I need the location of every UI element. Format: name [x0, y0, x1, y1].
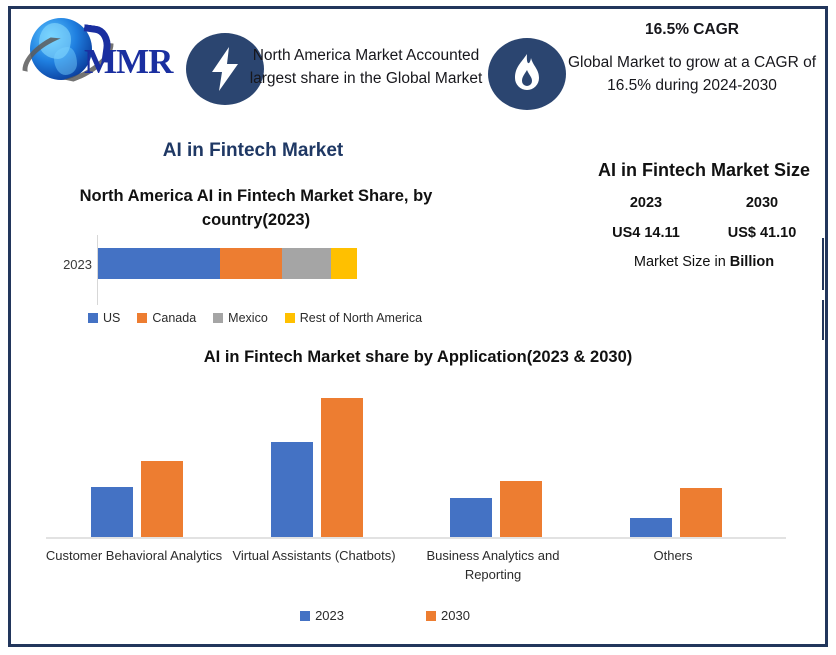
- north-america-chart-title: North America AI in Fintech Market Share…: [76, 184, 436, 232]
- category-label-2: Virtual Assistants (Chatbots): [224, 546, 404, 565]
- legend-label: Mexico: [228, 311, 268, 325]
- legend-swatch-icon: [88, 313, 98, 323]
- stacked-segment-mexico: [282, 248, 331, 279]
- border-tick: [822, 238, 824, 290]
- legend-item[interactable]: 2030: [426, 608, 470, 623]
- cagr-note: Global Market to grow at a CAGR of 16.5%…: [558, 51, 826, 97]
- market-size-year-2023: 2023: [603, 195, 689, 211]
- bar-2030-4: [680, 488, 722, 537]
- logo-text: MMR: [84, 42, 172, 82]
- stacked-segment-canada: [220, 248, 282, 279]
- cagr-value: 16.5% CAGR: [558, 18, 826, 41]
- bar-2030-2: [321, 398, 363, 537]
- bar-2023-3: [450, 498, 492, 537]
- legend-label: US: [103, 311, 120, 325]
- bar-2023-2: [271, 442, 313, 537]
- legend-swatch-icon: [426, 611, 436, 621]
- mmr-logo: MMR: [22, 12, 187, 92]
- legend-label: Rest of North America: [300, 311, 422, 325]
- border-tick: [822, 300, 824, 340]
- north-america-note: North America Market Accounted largest s…: [232, 44, 500, 90]
- infographic-canvas: MMR North America Market Accounted large…: [0, 0, 836, 655]
- legend-item[interactable]: US: [88, 311, 120, 325]
- legend-item[interactable]: 2023: [300, 608, 344, 623]
- legend-item[interactable]: Mexico: [213, 311, 268, 325]
- market-size-value-2023: US4 14.11: [603, 225, 689, 241]
- application-chart-baseline: [46, 537, 786, 539]
- bar-2030-3: [500, 481, 542, 537]
- north-america-legend: USCanadaMexicoRest of North America: [88, 311, 422, 325]
- stacked-category-label: 2023: [36, 257, 92, 272]
- market-size-unit: Market Size in Billion: [560, 254, 836, 270]
- market-size-unit-prefix: Market Size in: [634, 254, 730, 270]
- application-legend: 20232030: [0, 608, 770, 623]
- legend-swatch-icon: [300, 611, 310, 621]
- market-size-panel: AI in Fintech Market Size 2023 2030 US4 …: [560, 160, 836, 270]
- application-share-chart: Customer Behavioral AnalyticsVirtual Ass…: [0, 380, 836, 655]
- market-size-year-2030: 2030: [719, 195, 805, 211]
- flame-icon: [488, 38, 566, 110]
- stacked-bar: [98, 248, 357, 279]
- legend-swatch-icon: [213, 313, 223, 323]
- legend-label: 2023: [315, 608, 344, 623]
- application-chart-title: AI in Fintech Market share by Applicatio…: [118, 348, 718, 367]
- category-label-3: Business Analytics and Reporting: [403, 546, 583, 584]
- legend-swatch-icon: [137, 313, 147, 323]
- bar-2023-4: [630, 518, 672, 537]
- legend-label: Canada: [152, 311, 196, 325]
- category-label-1: Customer Behavioral Analytics: [44, 546, 224, 565]
- market-size-value-2030: US$ 41.10: [719, 225, 805, 241]
- cagr-block: 16.5% CAGR Global Market to grow at a CA…: [558, 18, 826, 97]
- category-label-4: Others: [583, 546, 763, 565]
- stacked-segment-rest-of-north-america: [331, 248, 357, 279]
- market-size-years: 2023 2030: [560, 195, 836, 211]
- legend-item[interactable]: Canada: [137, 311, 196, 325]
- bar-2030-1: [141, 461, 183, 537]
- page-title: AI in Fintech Market: [128, 140, 378, 162]
- legend-swatch-icon: [285, 313, 295, 323]
- stacked-segment-us: [98, 248, 220, 279]
- legend-item[interactable]: Rest of North America: [285, 311, 422, 325]
- north-america-share-chart: 2023: [36, 235, 436, 305]
- market-size-unit-bold: Billion: [730, 254, 774, 270]
- legend-label: 2030: [441, 608, 470, 623]
- bar-2023-1: [91, 487, 133, 537]
- market-size-values: US4 14.11 US$ 41.10: [560, 225, 836, 241]
- market-size-title: AI in Fintech Market Size: [560, 160, 836, 181]
